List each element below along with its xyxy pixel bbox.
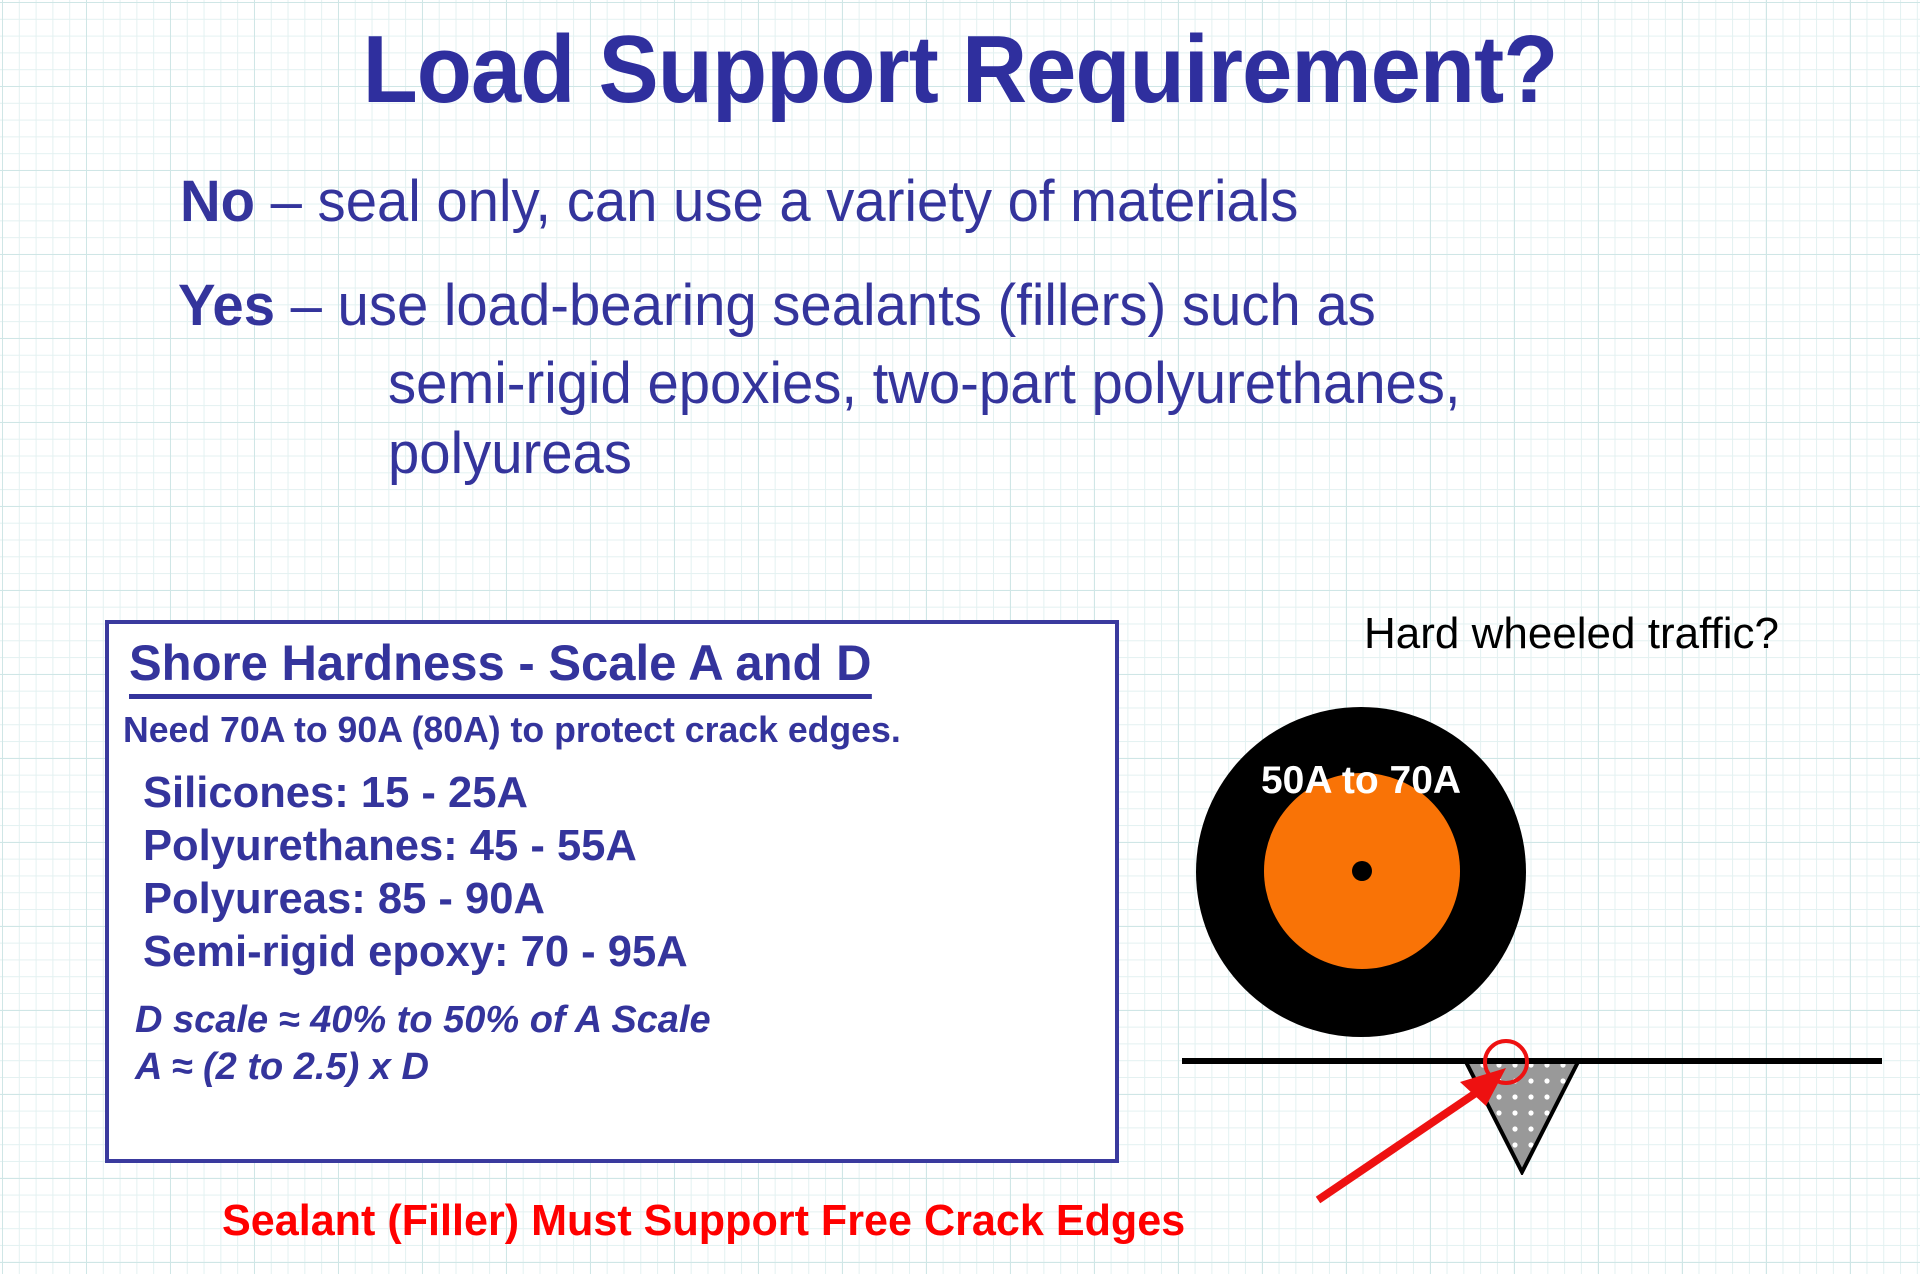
bullet-yes: Yes – use load-bearing sealants (fillers…	[178, 272, 1376, 340]
bullet-yes-text: – use load-bearing sealants (fillers) su…	[275, 273, 1376, 338]
shore-note-a-scale: A ≈ (2 to 2.5) x D	[135, 1044, 711, 1091]
bullet-no-text: – seal only, can use a variety of materi…	[255, 169, 1298, 234]
list-item: Semi-rigid epoxy: 70 - 95A	[143, 925, 688, 978]
shore-note-d-scale: D scale ≈ 40% to 50% of A Scale	[135, 997, 711, 1044]
shore-hardness-notes: D scale ≈ 40% to 50% of A Scale A ≈ (2 t…	[135, 997, 711, 1091]
shore-hardness-material-list: Silicones: 15 - 25A Polyurethanes: 45 - …	[143, 766, 693, 978]
list-item: Polyurethanes: 45 - 55A	[143, 819, 688, 872]
bullet-no-label: No	[180, 169, 255, 234]
page-title: Load Support Requirement?	[58, 14, 1863, 126]
bullet-yes-cont-1: semi-rigid epoxies, two-part polyurethan…	[388, 350, 1461, 418]
bullet-no: No – seal only, can use a variety of mat…	[180, 168, 1298, 236]
wheel-hardness-label: 50A to 70A	[1196, 758, 1526, 804]
list-item: Silicones: 15 - 25A	[143, 766, 688, 819]
shore-hardness-heading: Shore Hardness - Scale A and D	[129, 634, 872, 699]
slide-canvas: Load Support Requirement? No – seal only…	[0, 0, 1920, 1274]
wheel-axle-icon	[1352, 861, 1372, 881]
shore-hardness-requirement: Need 70A to 90A (80A) to protect crack e…	[123, 708, 901, 752]
shore-hardness-panel: Shore Hardness - Scale A and D Need 70A …	[105, 620, 1119, 1163]
hard-wheeled-traffic-question: Hard wheeled traffic?	[1364, 608, 1779, 660]
crack-callout-arrow-icon	[1310, 1060, 1510, 1205]
list-item: Polyureas: 85 - 90A	[143, 872, 688, 925]
bullet-yes-label: Yes	[178, 273, 275, 338]
bullet-yes-cont-2: polyureas	[388, 420, 632, 488]
bottom-caption: Sealant (Filler) Must Support Free Crack…	[222, 1195, 1185, 1247]
